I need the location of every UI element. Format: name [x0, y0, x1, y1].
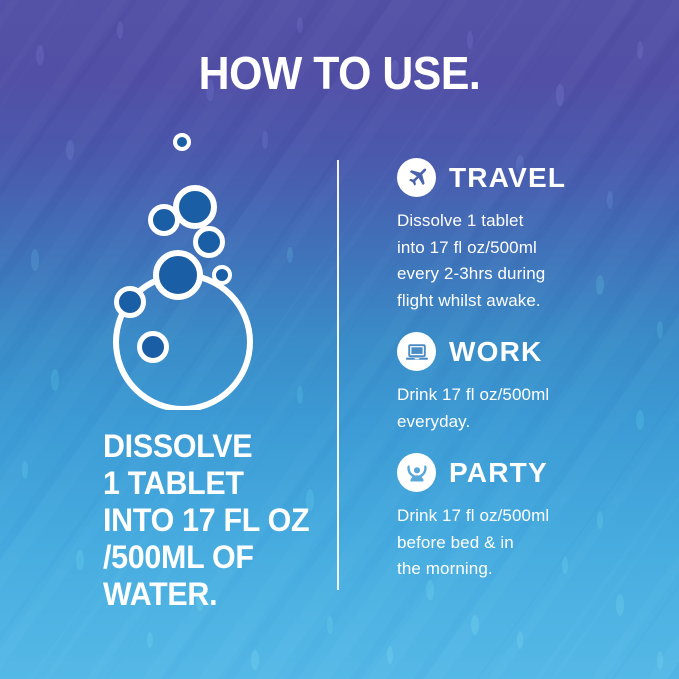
section-party: PARTY Drink 17 fl oz/500ml before bed & … — [397, 453, 669, 583]
headline-dissolve-instruction: DISSOLVE 1 TABLET INTO 17 FL OZ /500ML O… — [103, 428, 331, 613]
bubble-5 — [156, 253, 200, 297]
bubble-7 — [117, 289, 144, 316]
laptop-icon — [397, 332, 436, 371]
bubble-8 — [140, 334, 167, 361]
column-divider — [337, 160, 339, 590]
bubble-3 — [151, 207, 178, 234]
bubble-4 — [196, 229, 223, 256]
section-work-body: Drink 17 fl oz/500ml everyday. — [397, 382, 669, 435]
section-travel: TRAVEL Dissolve 1 tablet into 17 fl oz/5… — [397, 158, 669, 314]
bubble-6 — [214, 267, 230, 283]
section-work-title: WORK — [449, 338, 542, 366]
section-travel-body: Dissolve 1 tablet into 17 fl oz/500ml ev… — [397, 208, 669, 314]
section-work: WORK Drink 17 fl oz/500ml everyday. — [397, 332, 669, 435]
airplane-icon — [397, 158, 436, 197]
dissolving-tablet-bubbles-graphic — [0, 110, 330, 410]
section-travel-title: TRAVEL — [449, 164, 566, 192]
left-column: DISSOLVE 1 TABLET INTO 17 FL OZ /500ML O… — [0, 110, 330, 610]
right-column: TRAVEL Dissolve 1 tablet into 17 fl oz/5… — [397, 158, 669, 583]
how-to-use-infographic: HOW TO USE. DISSOLVE 1 TABLET INTO 17 FL… — [0, 0, 679, 679]
section-party-body: Drink 17 fl oz/500ml before bed & in the… — [397, 503, 669, 583]
section-party-header: PARTY — [397, 453, 669, 492]
section-party-title: PARTY — [449, 459, 548, 487]
party-person-icon — [397, 453, 436, 492]
page-title: HOW TO USE. — [24, 50, 655, 96]
bubble-1 — [175, 135, 189, 149]
section-travel-header: TRAVEL — [397, 158, 669, 197]
bubble-2 — [176, 188, 214, 226]
section-work-header: WORK — [397, 332, 669, 371]
